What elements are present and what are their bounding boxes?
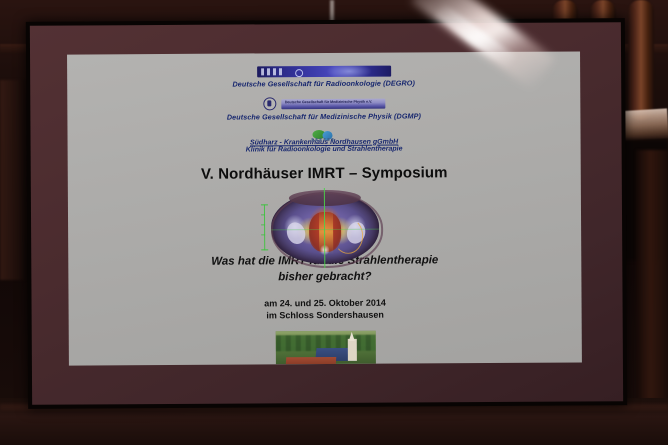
degro-logo (257, 66, 391, 78)
ct-dose-distribution-figure (260, 187, 388, 242)
photo-castle-spire (348, 332, 354, 341)
scale-tick (261, 214, 265, 215)
scale-ruler-tick-bottom (261, 249, 268, 250)
event-details: am 24. und 25. Oktober 2014 im Schloss S… (264, 297, 386, 322)
degro-logo-block: Deutsche Gesellschaft für Radioonkologie… (232, 65, 415, 97)
ct-isodose-arc (333, 217, 363, 253)
schloss-sondershausen-photo (275, 331, 375, 364)
photo-castle-tower (347, 339, 356, 361)
photograph-scene: Deutsche Gesellschaft für Radioonkologie… (0, 0, 668, 445)
wall-pillar-left (0, 80, 26, 280)
degro-emblem-icon (295, 69, 303, 77)
suedharz-klinikum-logo (310, 130, 338, 138)
scale-tick (261, 234, 265, 235)
dgmp-banner: Deutsche Gesellschaft für Medizinische P… (281, 98, 385, 109)
scale-ruler (263, 204, 264, 250)
projection-screen-surface: Deutsche Gesellschaft für Radioonkologie… (67, 51, 582, 365)
event-venue: im Schloss Sondershausen (266, 310, 384, 321)
question-line-2: bisher gebracht? (278, 270, 371, 283)
dgmp-banner-text: Deutsche Gesellschaft für Medizinische P… (285, 99, 372, 104)
photo-castle-red-roof (285, 357, 336, 364)
logo-underline (311, 138, 335, 141)
wall-pillar-right (636, 150, 668, 400)
degro-wordmark (261, 68, 283, 75)
presentation-slide: Deutsche Gesellschaft für Radioonkologie… (67, 51, 582, 365)
degro-caption: Deutsche Gesellschaft für Radioonkologie… (232, 78, 415, 88)
host-department: Klinik für Radioonkologie und Strahlenth… (246, 145, 403, 153)
dgmp-caption: Deutsche Gesellschaft für Medizinische P… (227, 111, 421, 121)
scale-tick (261, 224, 265, 225)
projection-screen-assembly: Deutsche Gesellschaft für Radioonkologie… (26, 18, 627, 409)
scale-ruler-tick-top (260, 204, 267, 205)
event-date: am 24. und 25. Oktober 2014 (264, 298, 386, 309)
dgmp-logo: Deutsche Gesellschaft für Medizinische P… (263, 97, 385, 111)
dgmp-logo-block: Deutsche Gesellschaft für Medizinische P… (227, 96, 421, 130)
slide-title: V. Nordhäuser IMRT – Symposium (201, 164, 448, 183)
dgmp-emblem-icon (263, 97, 276, 110)
